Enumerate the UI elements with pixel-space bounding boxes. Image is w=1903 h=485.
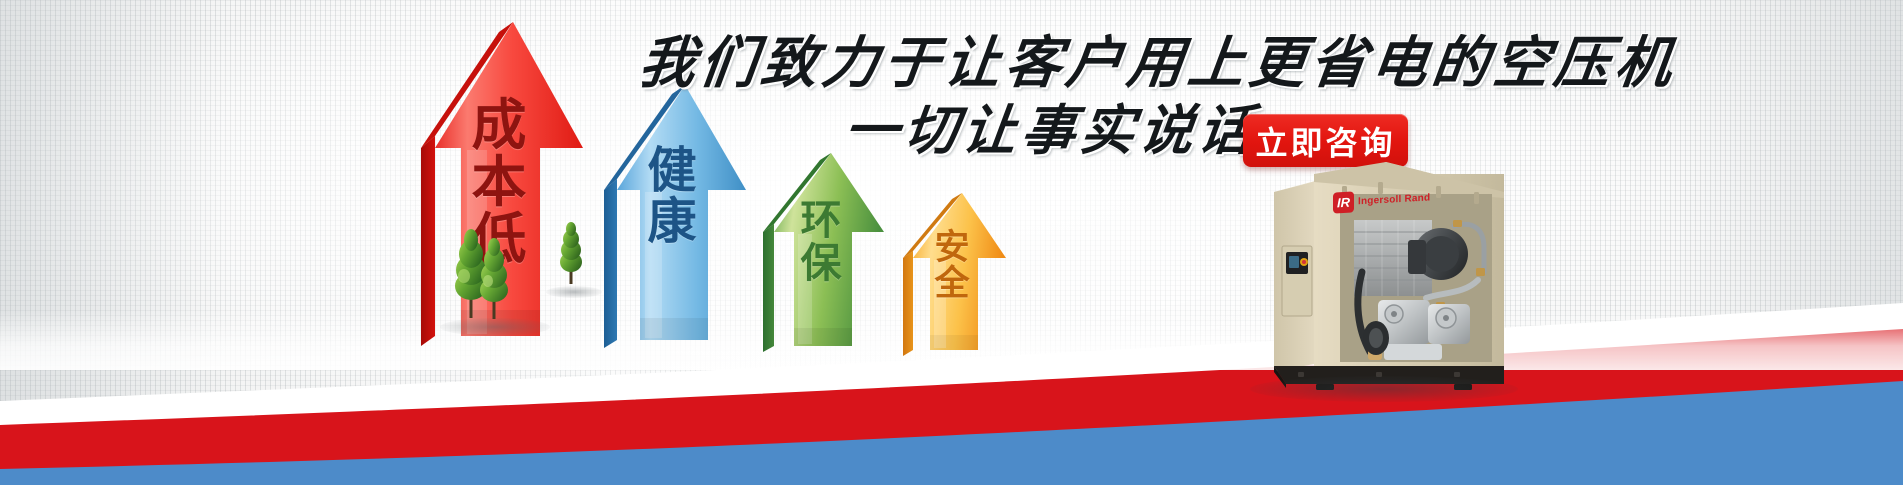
arrow-health-shape — [598, 82, 748, 350]
tree-icon — [478, 237, 510, 319]
headline-line-2: 一切让事实说话 — [840, 86, 1263, 165]
promo-banner: 成 本 低 健 康 — [0, 0, 1903, 485]
ir-monogram-icon: IR — [1333, 191, 1354, 213]
arrow-safety: 安 全 — [898, 190, 1008, 358]
tree-icon — [558, 222, 584, 284]
tree-small — [558, 222, 584, 289]
compressor-illustration — [1258, 152, 1510, 390]
air-compressor-image: IR Ingersoll Rand — [1258, 152, 1510, 390]
arrow-eco: 环 保 — [758, 150, 886, 354]
arrow-eco-shape — [758, 150, 886, 354]
tree-large-b — [478, 237, 510, 324]
machine-ground-shadow — [1250, 376, 1518, 402]
arrow-health: 健 康 — [598, 82, 748, 350]
ir-brand-name: Ingersoll Rand — [1358, 192, 1430, 207]
arrow-safety-shape — [898, 190, 1008, 358]
